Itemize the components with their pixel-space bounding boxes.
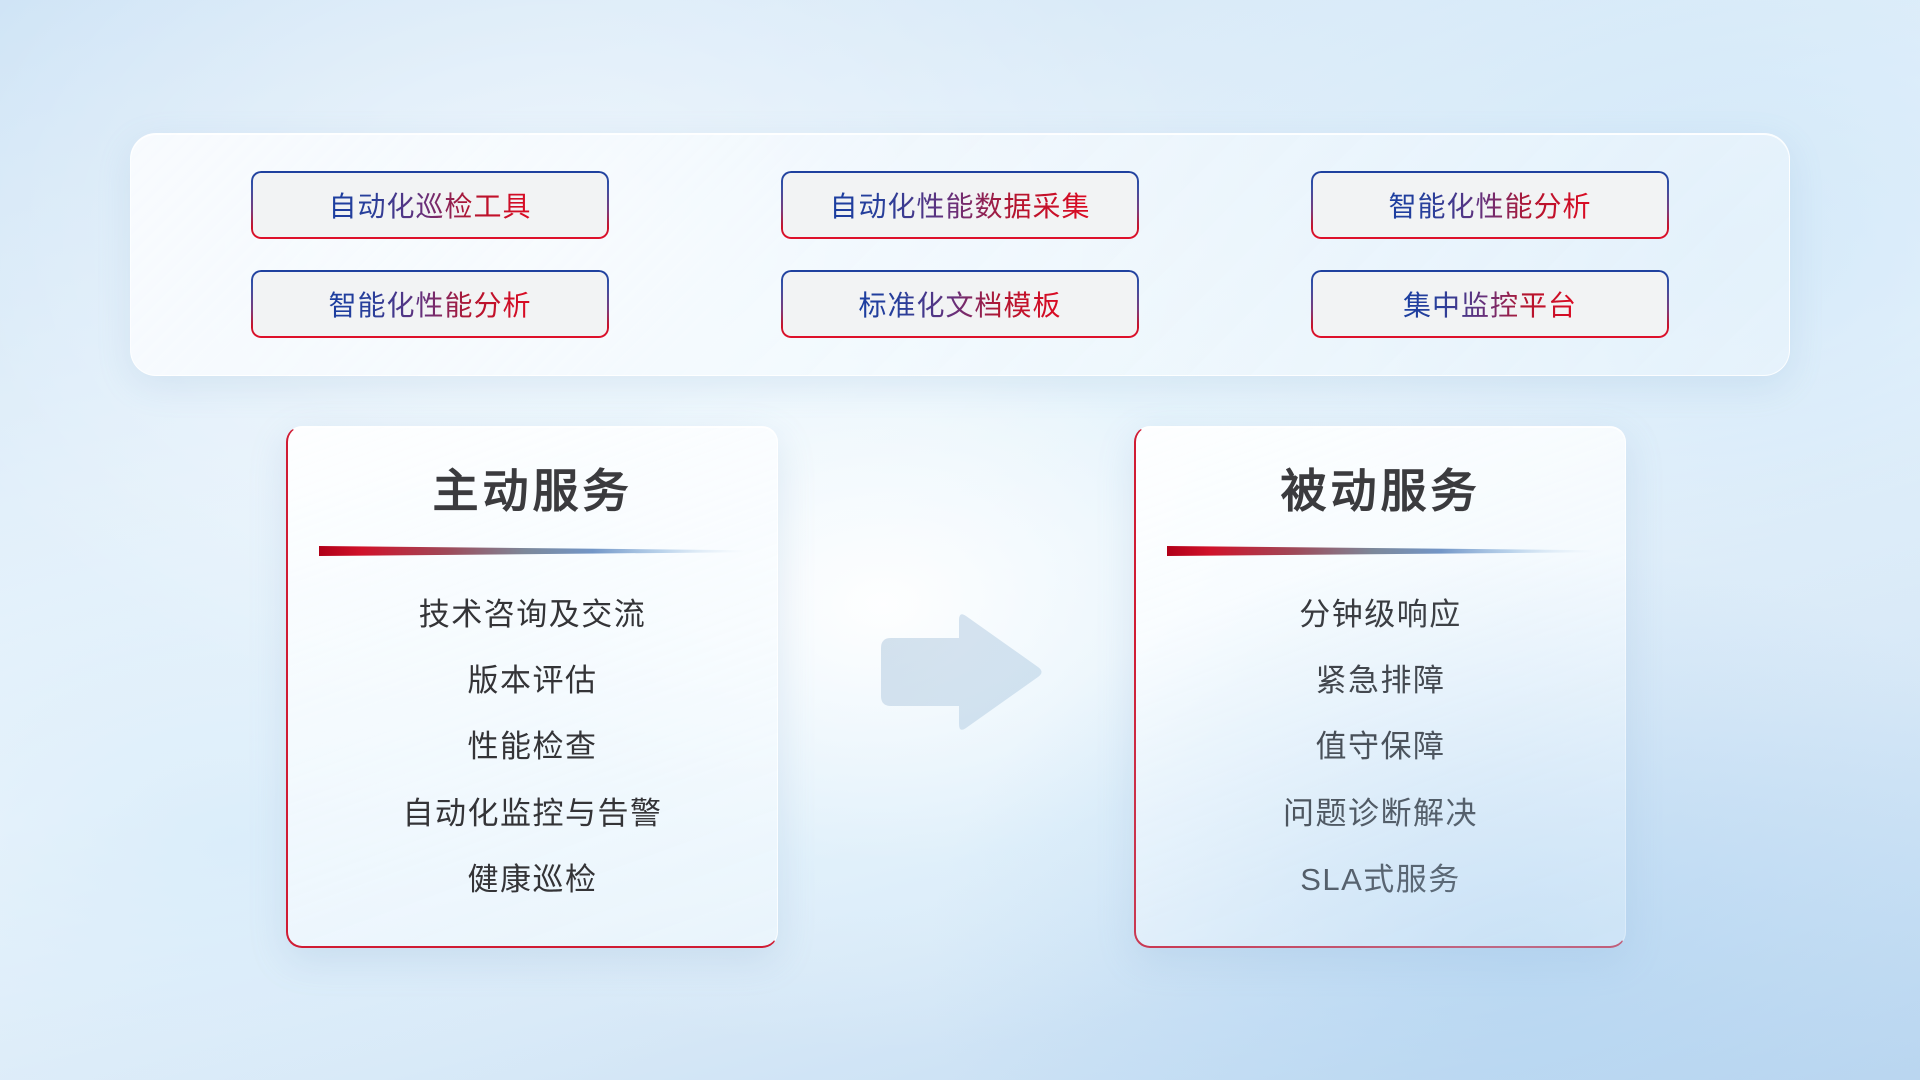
- title-divider: [319, 544, 747, 558]
- tool-chip-3[interactable]: 智能化性能分析: [251, 270, 609, 338]
- service-card-reactive: 被动服务 分钟级响应 紧急排障: [1134, 426, 1626, 948]
- tool-chip-5[interactable]: 集中监控平台: [1311, 270, 1669, 338]
- tool-chip-label: 标准化文档模板: [858, 284, 1061, 324]
- service-card-title: 被动服务: [1281, 465, 1481, 518]
- tool-chip-0[interactable]: 自动化巡检工具: [251, 171, 609, 239]
- tool-chip-label: 自动化性能数据采集: [829, 185, 1090, 225]
- tool-chip-label: 智能化性能分析: [328, 284, 531, 324]
- service-card-proactive: 主动服务 技术咨询及交流 版本评估: [286, 426, 778, 948]
- service-item: 自动化监控与告警: [403, 788, 663, 833]
- service-item: 问题诊断解决: [1283, 788, 1478, 833]
- tool-chip-1[interactable]: 自动化性能数据采集: [781, 171, 1139, 239]
- service-item: SLA式服务: [1300, 854, 1461, 899]
- tool-chip-label: 自动化巡检工具: [328, 185, 531, 225]
- service-item: 值守保障: [1316, 721, 1446, 766]
- service-item: 版本评估: [468, 655, 598, 700]
- tool-chip-label: 智能化性能分析: [1388, 185, 1591, 225]
- title-divider: [1167, 544, 1595, 558]
- service-item: 技术咨询及交流: [419, 589, 647, 634]
- service-item: 健康巡检: [468, 854, 598, 899]
- service-item: 性能检查: [468, 721, 598, 766]
- service-card-title: 主动服务: [433, 465, 633, 518]
- capability-tools-panel: 自动化巡检工具 自动化性能数据采集 智能化性能分析 智能化性能分析 标准化文档模…: [130, 133, 1790, 376]
- slide-canvas: 自动化巡检工具 自动化性能数据采集 智能化性能分析 智能化性能分析 标准化文档模…: [0, 0, 1920, 1080]
- service-item-list: 技术咨询及交流 版本评估 性能检查 自动化监控与告警 健康巡检: [318, 562, 747, 920]
- tool-chip-4[interactable]: 标准化文档模板: [781, 270, 1139, 338]
- service-item-list: 分钟级响应 紧急排障 值守保障 问题诊断解决 SLA式服务: [1166, 562, 1595, 920]
- service-item: 紧急排障: [1316, 655, 1446, 700]
- tool-chip-label: 集中监控平台: [1403, 284, 1577, 324]
- service-item: 分钟级响应: [1299, 589, 1462, 634]
- arrow-right-icon: [873, 612, 1045, 730]
- tool-chip-2[interactable]: 智能化性能分析: [1311, 171, 1669, 239]
